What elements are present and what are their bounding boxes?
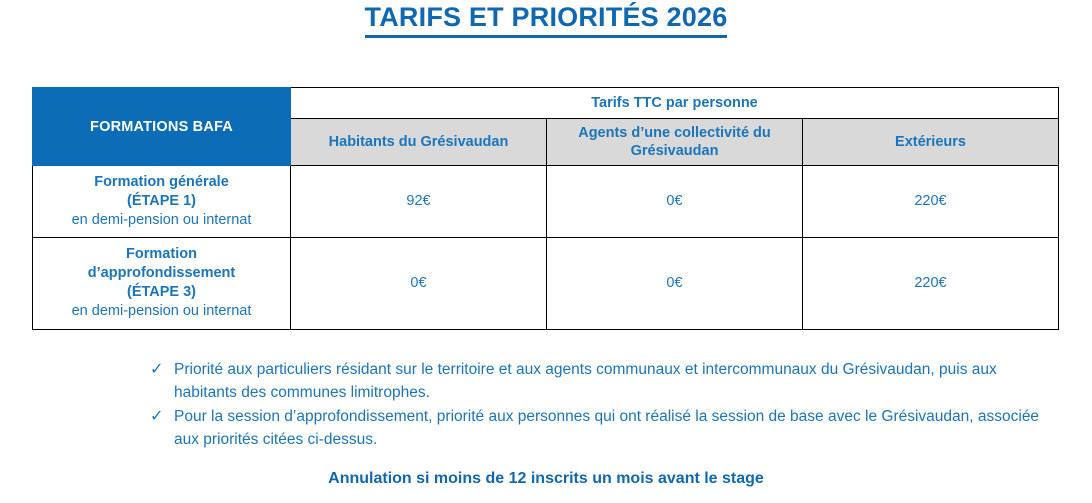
table-corner-label: FORMATIONS BAFA — [33, 88, 291, 166]
row-label-line-2: (ÉTAPE 1) — [37, 192, 286, 211]
note-text: Pour la session d’approfondissement, pri… — [174, 405, 1062, 451]
table-group-header: Tarifs TTC par personne — [291, 88, 1059, 119]
price-cell-habitants: 0€ — [291, 237, 547, 329]
row-label-line-2: d’approfondissement — [37, 264, 286, 283]
price-cell-agents: 0€ — [547, 166, 803, 238]
pricing-table: FORMATIONS BAFA Tarifs TTC par personne … — [32, 87, 1059, 330]
cancellation-note: Annulation si moins de 12 inscrits un mo… — [0, 470, 1092, 488]
list-item: ✓ Priorité aux particuliers résidant sur… — [150, 358, 1062, 404]
column-header-agents: Agents d’une collectivité du Grésivaudan — [547, 119, 803, 166]
row-label-formation-generale: Formation générale (ÉTAPE 1) en demi-pen… — [33, 166, 291, 238]
price-cell-habitants: 92€ — [291, 166, 547, 238]
column-header-habitants: Habitants du Grésivaudan — [291, 119, 547, 166]
row-label-line-1: Formation — [37, 245, 286, 264]
check-icon: ✓ — [150, 405, 174, 428]
column-header-exterieurs: Extérieurs — [803, 119, 1059, 166]
price-cell-exterieurs: 220€ — [803, 237, 1059, 329]
note-text: Priorité aux particuliers résidant sur l… — [174, 358, 1062, 404]
price-cell-agents: 0€ — [547, 237, 803, 329]
page-title-container: TARIFS ET PRIORITÉS 2026 — [0, 2, 1092, 38]
table-row: Formation d’approfondissement (ÉTAPE 3) … — [33, 237, 1059, 329]
table-header-row-group: FORMATIONS BAFA Tarifs TTC par personne — [33, 88, 1059, 119]
list-item: ✓ Pour la session d’approfondissement, p… — [150, 405, 1062, 451]
row-label-line-3: (ÉTAPE 3) — [37, 283, 286, 302]
table-row: Formation générale (ÉTAPE 1) en demi-pen… — [33, 166, 1059, 238]
row-label-formation-approfondissement: Formation d’approfondissement (ÉTAPE 3) … — [33, 237, 291, 329]
row-label-note: en demi-pension ou internat — [37, 211, 286, 230]
price-cell-exterieurs: 220€ — [803, 166, 1059, 238]
pricing-flyer-page: TARIFS ET PRIORITÉS 2026 FORMATIONS BAFA… — [0, 0, 1092, 503]
row-label-note: en demi-pension ou internat — [37, 302, 286, 321]
row-label-line-1: Formation générale — [37, 173, 286, 192]
page-title: TARIFS ET PRIORITÉS 2026 — [365, 2, 728, 38]
priority-notes-list: ✓ Priorité aux particuliers résidant sur… — [150, 358, 1062, 452]
check-icon: ✓ — [150, 358, 174, 381]
